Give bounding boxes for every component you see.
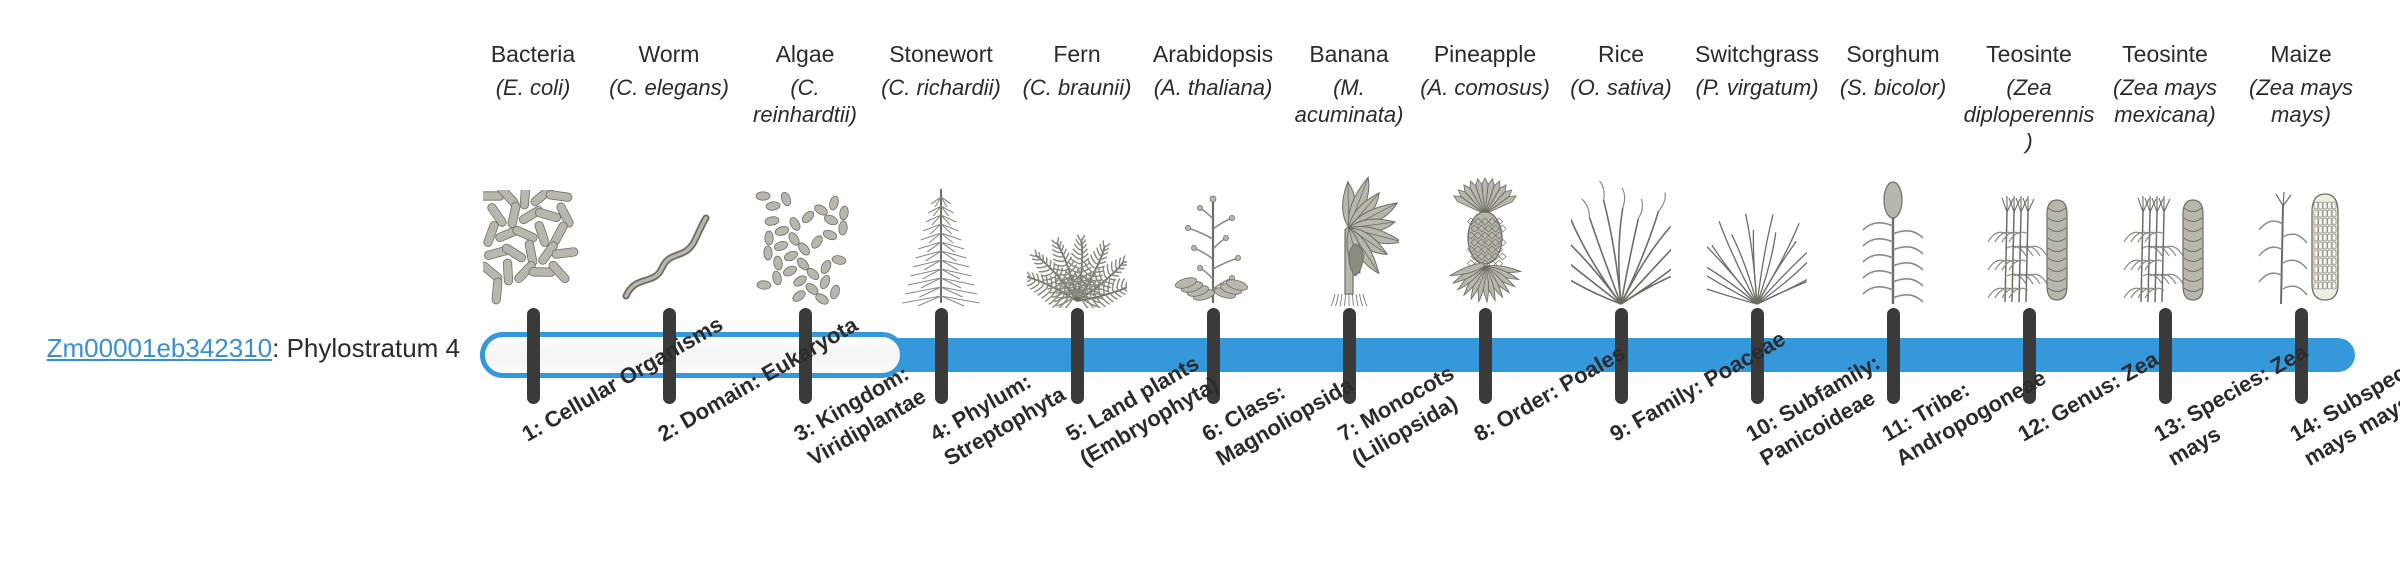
rice-illustration: [1553, 168, 1689, 308]
phylostratum-number: 2:: [654, 415, 683, 446]
species-common-name: Worm: [601, 40, 737, 68]
species-scientific-name: (S. bicolor): [1825, 74, 1961, 101]
species-scientific-name: (C. reinhardtii): [737, 74, 873, 128]
gene-phylostratum-value: Phylostratum 4: [287, 333, 460, 363]
species-column-arabidopsis-6: Arabidopsis(A. thaliana): [1145, 40, 1281, 101]
species-scientific-name: (E. coli): [465, 74, 601, 101]
sorghum-illustration: [1825, 168, 1961, 308]
teosinte-illustration: [1961, 168, 2097, 308]
gene-id-link[interactable]: Zm00001eb342310: [47, 333, 273, 363]
species-column-teosinte-13: Teosinte(Zea mays mexicana): [2097, 40, 2233, 128]
species-column-stonewort-4: Stonewort(C. richardii): [873, 40, 1009, 101]
species-scientific-name: (P. virgatum): [1689, 74, 1825, 101]
species-common-name: Sorghum: [1825, 40, 1961, 68]
phylostratum-tick-1: [527, 308, 540, 404]
species-column-rice-9: Rice(O. sativa): [1553, 40, 1689, 101]
species-scientific-name: (Zea diploperennis): [1961, 74, 2097, 155]
species-common-name: Banana: [1281, 40, 1417, 68]
gene-label-separator: :: [272, 333, 286, 363]
species-column-switchgrass-10: Switchgrass(P. virgatum): [1689, 40, 1825, 101]
species-common-name: Rice: [1553, 40, 1689, 68]
phylostratum-number: 1:: [518, 415, 547, 446]
banana-illustration: [1281, 168, 1417, 308]
teosinte-illustration: [2097, 168, 2233, 308]
species-scientific-name: (O. sativa): [1553, 74, 1689, 101]
species-scientific-name: (Zea mays mays): [2233, 74, 2369, 128]
species-column-algae-3: Algae(C. reinhardtii): [737, 40, 873, 128]
species-scientific-name: (C. elegans): [601, 74, 737, 101]
species-column-pineapple-8: Pineapple(A. comosus): [1417, 40, 1553, 101]
species-common-name: Fern: [1009, 40, 1145, 68]
pineapple-illustration: [1417, 168, 1553, 308]
gene-phylostratum-label: Zm00001eb342310: Phylostratum 4: [40, 332, 460, 364]
phylostratigraphy-figure: Zm00001eb342310: Phylostratum 4 Bacteria…: [0, 0, 2400, 580]
species-common-name: Maize: [2233, 40, 2369, 68]
species-scientific-name: (A. comosus): [1417, 74, 1553, 101]
species-common-name: Stonewort: [873, 40, 1009, 68]
species-column-bacteria-1: Bacteria(E. coli): [465, 40, 601, 101]
species-column-sorghum-11: Sorghum(S. bicolor): [1825, 40, 1961, 101]
species-common-name: Teosinte: [2097, 40, 2233, 68]
maize-illustration: [2233, 168, 2369, 308]
species-column-teosinte-12: Teosinte(Zea diploperennis): [1961, 40, 2097, 155]
phylostratum-number: 12:: [2014, 409, 2054, 447]
arabidopsis-illustration: [1145, 168, 1281, 308]
algae-illustration: [737, 168, 873, 308]
phylostratum-number: 9:: [1606, 415, 1635, 446]
phylostratum-number: 8:: [1470, 415, 1499, 446]
species-column-banana-7: Banana(M. acuminata): [1281, 40, 1417, 128]
worm-illustration: [601, 168, 737, 308]
fern-illustration: [1009, 168, 1145, 308]
species-common-name: Pineapple: [1417, 40, 1553, 68]
species-scientific-name: (A. thaliana): [1145, 74, 1281, 101]
species-column-worm-2: Worm(C. elegans): [601, 40, 737, 101]
species-common-name: Arabidopsis: [1145, 40, 1281, 68]
species-scientific-name: (C. richardii): [873, 74, 1009, 101]
species-scientific-name: (C. braunii): [1009, 74, 1145, 101]
species-common-name: Algae: [737, 40, 873, 68]
species-column-fern-5: Fern(C. braunii): [1009, 40, 1145, 101]
species-scientific-name: (Zea mays mexicana): [2097, 74, 2233, 128]
species-common-name: Teosinte: [1961, 40, 2097, 68]
species-common-name: Switchgrass: [1689, 40, 1825, 68]
species-column-maize-14: Maize(Zea mays mays): [2233, 40, 2369, 128]
bacteria-illustration: [465, 168, 601, 308]
species-scientific-name: (M. acuminata): [1281, 74, 1417, 128]
switchgrass-illustration: [1689, 168, 1825, 308]
species-common-name: Bacteria: [465, 40, 601, 68]
stonewort-illustration: [873, 168, 1009, 308]
